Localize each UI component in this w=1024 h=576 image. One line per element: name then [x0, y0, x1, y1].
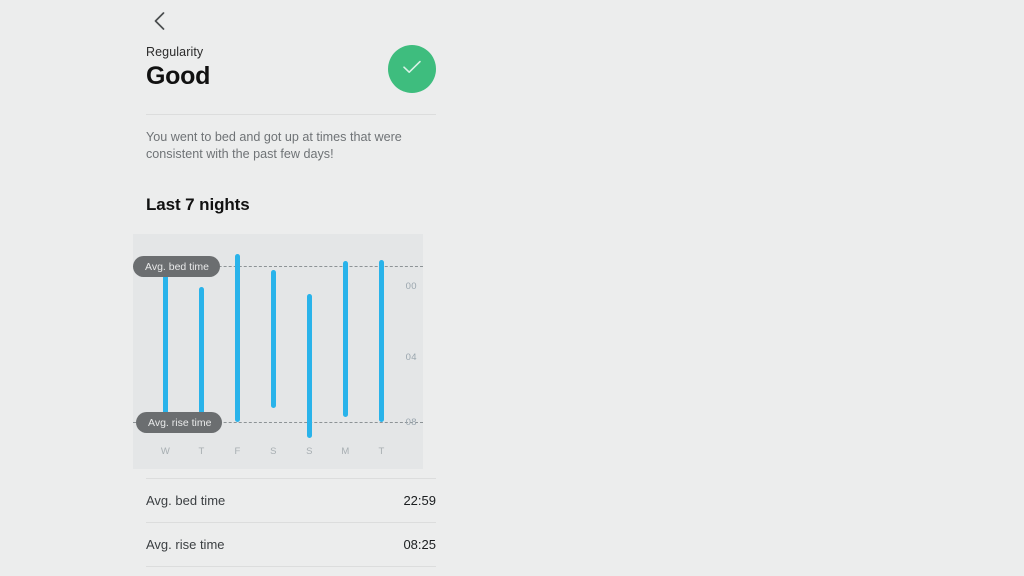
sleep-chart: 00 04 08 WTFSSMT Avg. bed time Avg. rise… — [133, 234, 423, 469]
regularity-panel: Regularity Good You went to bed and got … — [0, 0, 512, 576]
header-divider-left — [146, 114, 436, 115]
stat-label: Avg. rise time — [146, 537, 225, 552]
stat-row-avg-bed-time: Avg. bed time 22:59 — [146, 479, 436, 522]
chart-bar — [379, 260, 384, 422]
regularity-header: Regularity Good — [146, 45, 436, 107]
depth-panel: Depth Bad ! Your night did not seem very… — [512, 0, 1024, 576]
avg-bed-time-tag: Avg. bed time — [133, 256, 220, 277]
chart-day-label: T — [198, 446, 204, 457]
chart-bar — [271, 270, 276, 408]
check-icon — [402, 59, 422, 80]
avg-rise-time-tag: Avg. rise time — [136, 412, 222, 433]
chart-bar — [307, 294, 312, 439]
chart-bar — [235, 254, 240, 422]
status-badge-good — [388, 45, 436, 93]
app-screen: Regularity Good You went to bed and got … — [0, 0, 1024, 576]
stat-label: Avg. bed time — [146, 493, 225, 508]
stat-value: 22:59 — [403, 493, 436, 508]
chart-day-label: F — [234, 446, 240, 457]
chart-bar — [199, 287, 204, 422]
chart-day-label: W — [161, 446, 170, 457]
chart-bar — [343, 261, 348, 417]
chevron-left-icon — [154, 12, 165, 30]
regularity-description: You went to bed and got up at times that… — [146, 129, 436, 162]
stat-divider-bottom — [146, 566, 436, 567]
back-button-left[interactable] — [146, 8, 172, 34]
chart-day-label: M — [341, 446, 349, 457]
chart-day-label: S — [270, 446, 277, 457]
section-title-last-7-nights: Last 7 nights — [146, 195, 250, 215]
chart-day-label: T — [378, 446, 384, 457]
stat-value: 08:25 — [403, 537, 436, 552]
chart-day-label: S — [306, 446, 313, 457]
stat-row-avg-rise-time: Avg. rise time 08:25 — [146, 523, 436, 566]
chart-bar — [163, 274, 168, 422]
